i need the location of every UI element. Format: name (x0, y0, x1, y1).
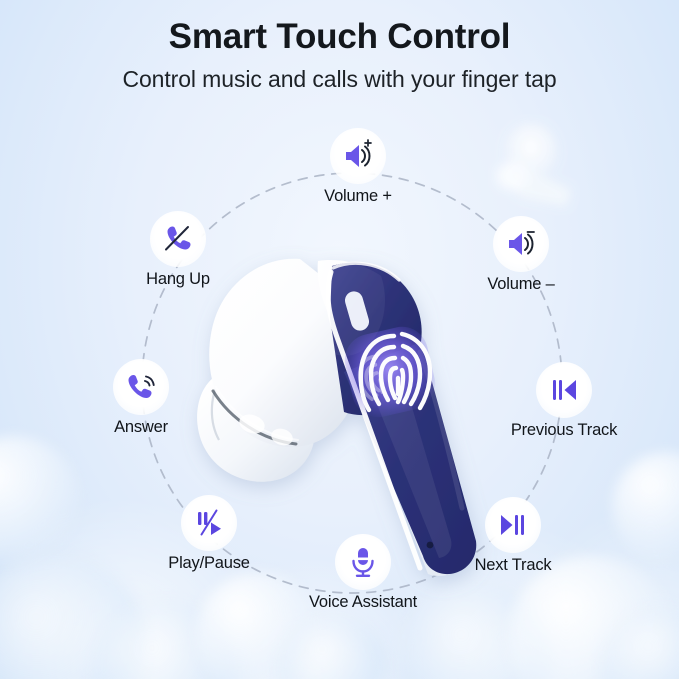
next-track-icon (496, 508, 530, 542)
phone-ring-icon (124, 370, 158, 404)
feature-icon-disc (536, 362, 592, 418)
feature-voice-assistant[interactable]: Voice Assistant (301, 534, 425, 612)
earbud-mic-hole (427, 542, 434, 549)
feature-icon-disc (330, 128, 386, 184)
feature-label: Play/Pause (147, 554, 271, 573)
play-pause-icon (192, 506, 226, 540)
feature-icon-disc (181, 495, 237, 551)
feature-icon-disc (113, 359, 169, 415)
feature-icon-disc (485, 497, 541, 553)
phone-hangup-icon (161, 222, 195, 256)
infographic-canvas: Smart Touch Control Control music and ca… (0, 0, 679, 679)
feature-volume-down[interactable]: Volume – (459, 216, 583, 294)
earbud-secondary-blurred (496, 123, 572, 207)
speaker-plus-icon (341, 139, 375, 173)
feature-icon-disc (493, 216, 549, 272)
feature-answer[interactable]: Answer (79, 359, 203, 437)
feature-icon-disc (150, 211, 206, 267)
feature-play-pause[interactable]: Play/Pause (147, 495, 271, 573)
feature-label: Voice Assistant (301, 593, 425, 612)
previous-track-icon (547, 373, 581, 407)
feature-label: Volume + (296, 187, 420, 206)
feature-label: Previous Track (502, 421, 626, 440)
feature-label: Hang Up (116, 270, 240, 289)
feature-previous-track[interactable]: Previous Track (502, 362, 626, 440)
feature-icon-disc (335, 534, 391, 590)
microphone-icon (346, 545, 380, 579)
feature-volume-up[interactable]: Volume + (296, 128, 420, 206)
feature-label: Next Track (451, 556, 575, 575)
speaker-minus-icon (504, 227, 538, 261)
feature-label: Volume – (459, 275, 583, 294)
feature-next-track[interactable]: Next Track (451, 497, 575, 575)
feature-hang-up[interactable]: Hang Up (116, 211, 240, 289)
feature-label: Answer (79, 418, 203, 437)
